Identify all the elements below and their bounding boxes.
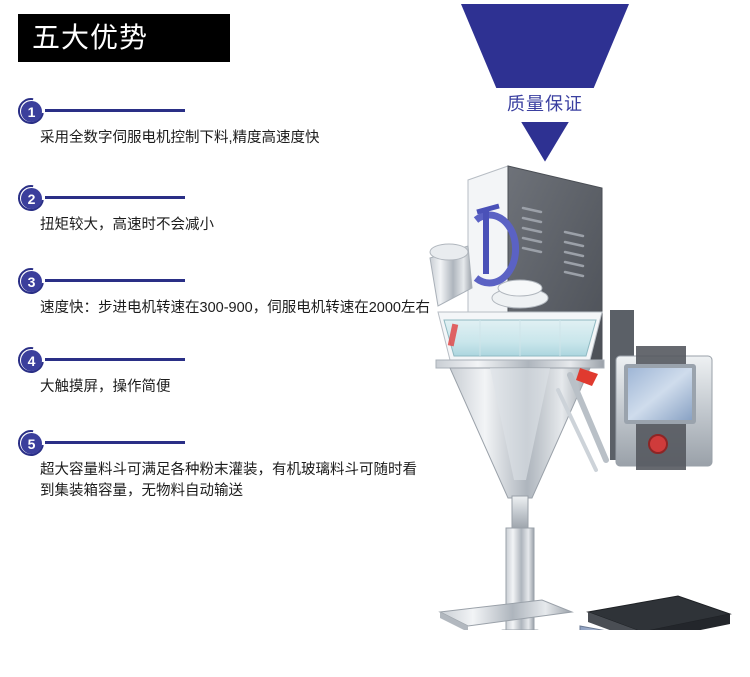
screen-display[interactable]: [628, 368, 692, 420]
divider-line: [45, 441, 185, 444]
feature-list: 1 采用全数字伺服电机控制下料,精度高速度快 2 扭矩较大，高速时不会减小 3: [0, 96, 440, 502]
feature-text-1: 采用全数字伺服电机控制下料,精度高速度快: [40, 128, 430, 149]
badge-number: 3: [21, 271, 42, 292]
number-badge-4: 4: [18, 347, 44, 373]
feature-header-4: 4: [18, 345, 440, 375]
divider-line: [45, 358, 185, 361]
badge-number: 1: [21, 101, 42, 122]
number-badge-5: 5: [18, 430, 44, 456]
page-title: 五大优势: [18, 24, 148, 52]
feature-text-4: 大触摸屏，操作简便: [40, 377, 430, 398]
feature-header-5: 5: [18, 428, 440, 458]
feature-text-2: 扭矩较大，高速时不会减小: [40, 215, 430, 236]
feature-text-5: 超大容量料斗可满足各种粉末灌装，有机玻璃料斗可随时看到集装箱容量，无物料自动输送: [40, 460, 430, 502]
quality-badge-label: 质量保证: [440, 94, 650, 116]
divider-line: [45, 196, 185, 199]
number-badge-2: 2: [18, 185, 44, 211]
badge-number: 5: [21, 433, 42, 454]
auger-funnel: [450, 368, 606, 530]
title-banner: 五大优势: [18, 14, 230, 62]
support-stand: [438, 528, 614, 630]
number-badge-3: 3: [18, 268, 44, 294]
feature-header-2: 2: [18, 183, 440, 213]
machine-photo: [420, 160, 750, 630]
feature-header-3: 3: [18, 266, 440, 296]
divider-line: [45, 279, 185, 282]
divider-line: [45, 109, 185, 112]
feed-chute: [430, 244, 472, 306]
badge-number: 2: [21, 188, 42, 209]
feature-item-5: 5 超大容量料斗可满足各种粉末灌装，有机玻璃料斗可随时看到集装箱容量，无物料自动…: [0, 428, 440, 502]
feature-text-3: 速度快：步进电机转速在300-900，伺服电机转速在2000左右: [40, 298, 430, 319]
feature-item-2: 2 扭矩较大，高速时不会减小: [0, 183, 440, 236]
promo-page: 五大优势 1 采用全数字伺服电机控制下料,精度高速度快 2 扭矩较大，高速: [0, 0, 750, 677]
feature-header-1: 1: [18, 96, 440, 126]
feature-item-4: 4 大触摸屏，操作简便: [0, 345, 440, 398]
feature-item-3: 3 速度快：步进电机转速在300-900，伺服电机转速在2000左右: [0, 266, 440, 319]
quality-badge: 质量保证: [440, 4, 650, 162]
hmi-touchscreen[interactable]: [610, 310, 712, 470]
number-badge-1: 1: [18, 98, 44, 124]
badge-number: 4: [21, 350, 42, 371]
trapezoid-shape-icon: [461, 4, 629, 88]
emergency-stop-button[interactable]: [649, 435, 667, 453]
feature-item-1: 1 采用全数字伺服电机控制下料,精度高速度快: [0, 96, 440, 149]
weighing-scale: [580, 596, 730, 630]
down-triangle-icon: [521, 122, 569, 162]
machine-illustration: [420, 160, 750, 630]
